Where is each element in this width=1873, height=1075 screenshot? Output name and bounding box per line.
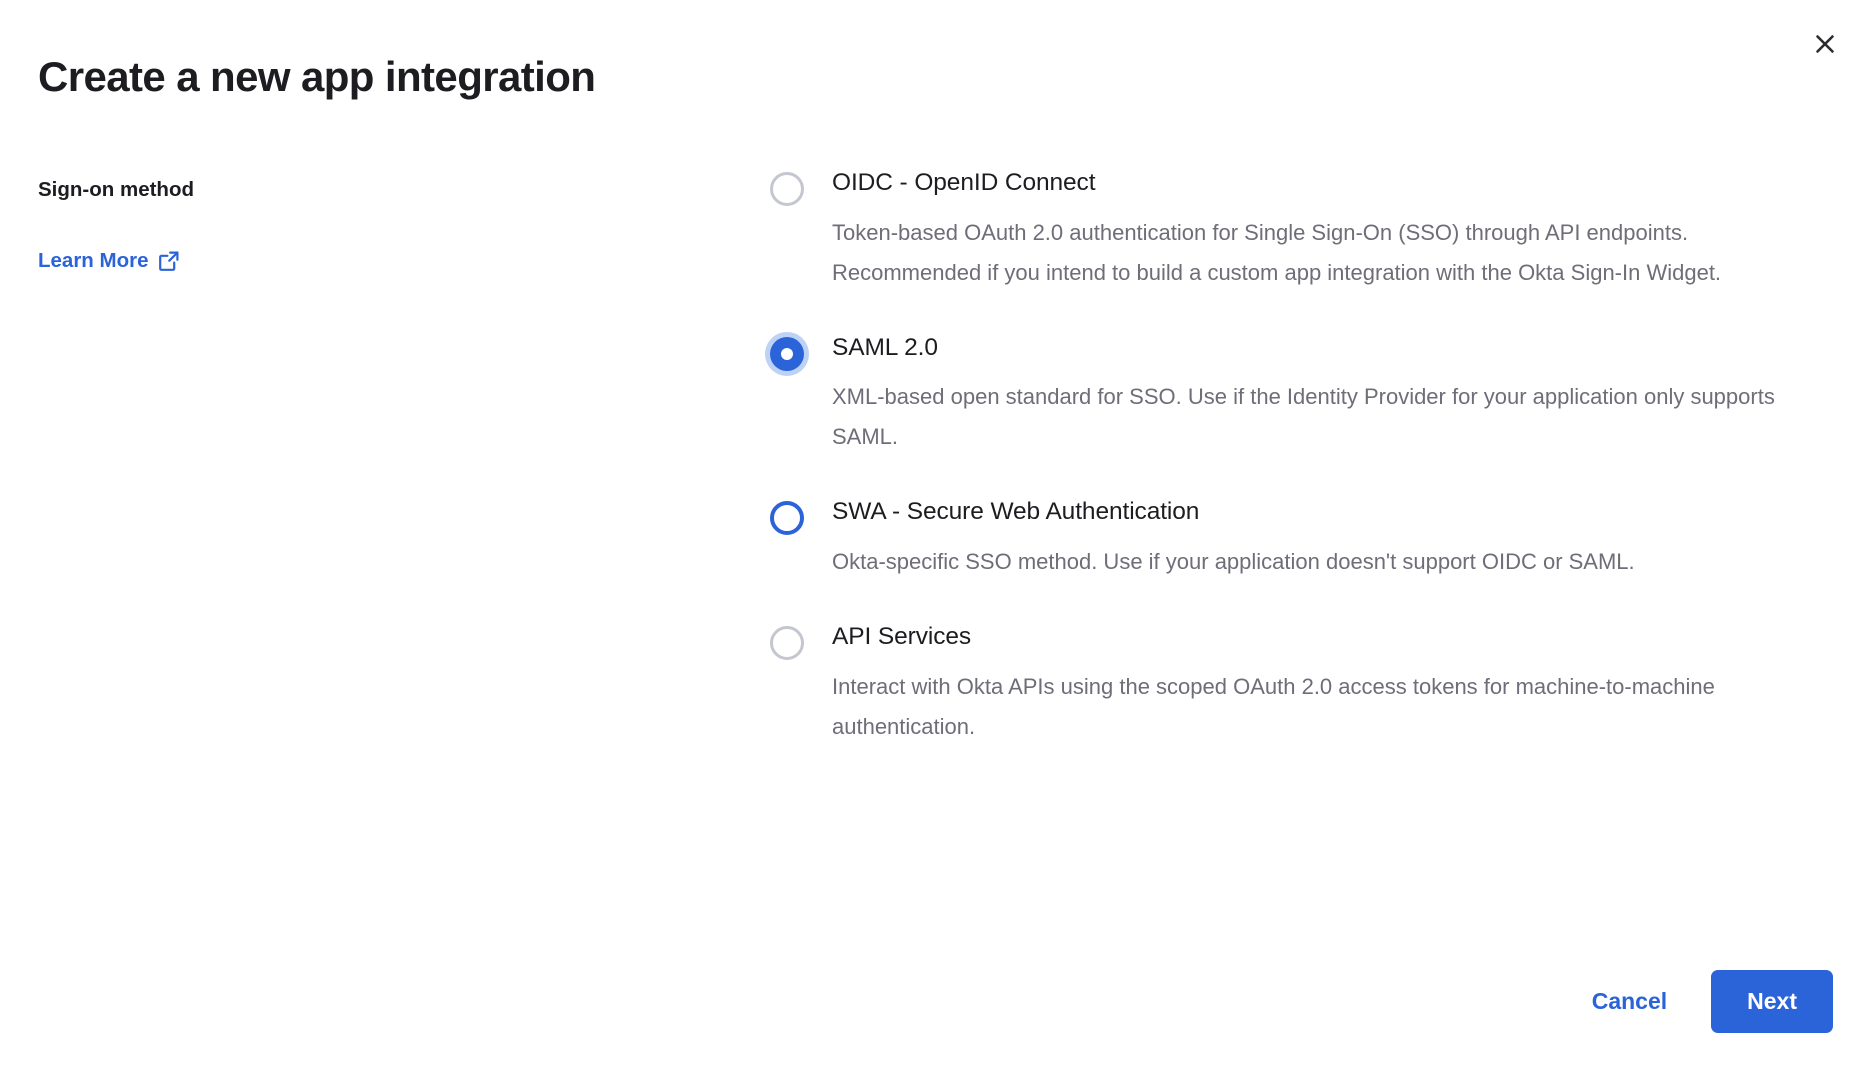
learn-more-link[interactable]: Learn More — [38, 249, 180, 273]
external-link-icon — [158, 250, 180, 272]
radio-button-saml[interactable] — [770, 337, 804, 371]
sign-on-method-radio-group: OIDC - OpenID Connect Token-based OAuth … — [770, 168, 1830, 747]
radio-description-swa: Okta-specific SSO method. Use if your ap… — [832, 542, 1830, 582]
radio-label-oidc: OIDC - OpenID Connect — [832, 168, 1830, 199]
radio-label-saml: SAML 2.0 — [832, 333, 1830, 364]
learn-more-label: Learn More — [38, 249, 149, 273]
close-button[interactable] — [1803, 22, 1847, 66]
radio-option-api-services[interactable]: API Services Interact with Okta APIs usi… — [770, 622, 1830, 747]
radio-label-swa: SWA - Secure Web Authentication — [832, 497, 1830, 528]
radio-description-saml: XML-based open standard for SSO. Use if … — [832, 377, 1830, 457]
left-column: Sign-on method Learn More — [38, 176, 598, 273]
page-title: Create a new app integration — [38, 52, 595, 102]
sign-on-method-label: Sign-on method — [38, 176, 598, 205]
create-app-integration-dialog: Create a new app integration Sign-on met… — [0, 0, 1873, 1075]
next-button[interactable]: Next — [1711, 970, 1833, 1033]
radio-description-api-services: Interact with Okta APIs using the scoped… — [832, 667, 1830, 747]
dialog-footer: Cancel Next — [1578, 970, 1833, 1033]
radio-option-oidc[interactable]: OIDC - OpenID Connect Token-based OAuth … — [770, 168, 1830, 293]
radio-label-api-services: API Services — [832, 622, 1830, 653]
radio-description-oidc: Token-based OAuth 2.0 authentication for… — [832, 213, 1830, 293]
radio-button-swa[interactable] — [770, 501, 804, 535]
radio-option-saml[interactable]: SAML 2.0 XML-based open standard for SSO… — [770, 333, 1830, 458]
close-icon — [1811, 30, 1839, 58]
radio-button-api-services[interactable] — [770, 626, 804, 660]
radio-option-swa[interactable]: SWA - Secure Web Authentication Okta-spe… — [770, 497, 1830, 582]
radio-button-oidc[interactable] — [770, 172, 804, 206]
cancel-button[interactable]: Cancel — [1578, 978, 1681, 1025]
